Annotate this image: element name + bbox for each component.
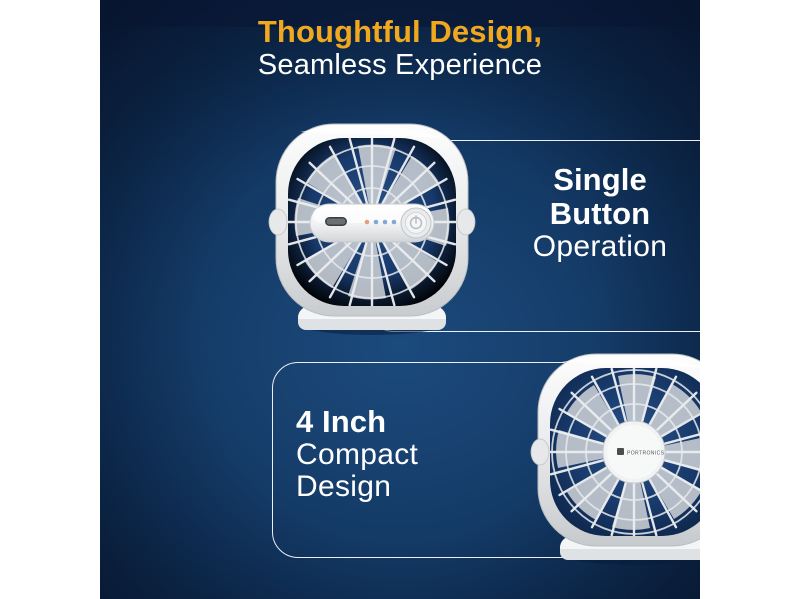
- fan-illustration-1: [266, 110, 478, 342]
- feature-text-compact-design: 4 Inch Compact Design: [296, 405, 526, 504]
- product-marketing-image: Thoughtful Design, Seamless Experience S…: [0, 0, 800, 599]
- feature1-light-line: Operation: [480, 231, 700, 264]
- fan-hub-2: PORTRONICS: [603, 421, 665, 483]
- navy-background-panel: Thoughtful Design, Seamless Experience S…: [100, 0, 700, 599]
- feature2-light-line1: Compact: [296, 439, 526, 472]
- brand-mark-icon: [617, 448, 624, 455]
- heading-line-1: Thoughtful Design,: [100, 14, 700, 50]
- product-image-fan-with-logo: PORTRONICS: [528, 340, 700, 572]
- fan-illustration-2: PORTRONICS: [528, 340, 700, 572]
- heading-white-text: Seamless Experience: [258, 49, 542, 81]
- brand-name-text: PORTRONICS: [627, 450, 665, 456]
- product-image-fan-with-controls: [266, 110, 478, 342]
- feature-text-single-button: Single Button Operation: [480, 163, 700, 263]
- feature2-bold-line1: 4 Inch: [296, 405, 526, 439]
- heading-line-2: Seamless Experience: [100, 49, 700, 82]
- feature2-light-line2: Design: [296, 471, 526, 504]
- feature1-bold-line2: Button: [480, 197, 700, 231]
- heading-gold-text: Thoughtful Design,: [258, 14, 542, 49]
- fan-control-bar-1: [310, 204, 434, 242]
- feature1-bold-line1: Single: [480, 163, 700, 197]
